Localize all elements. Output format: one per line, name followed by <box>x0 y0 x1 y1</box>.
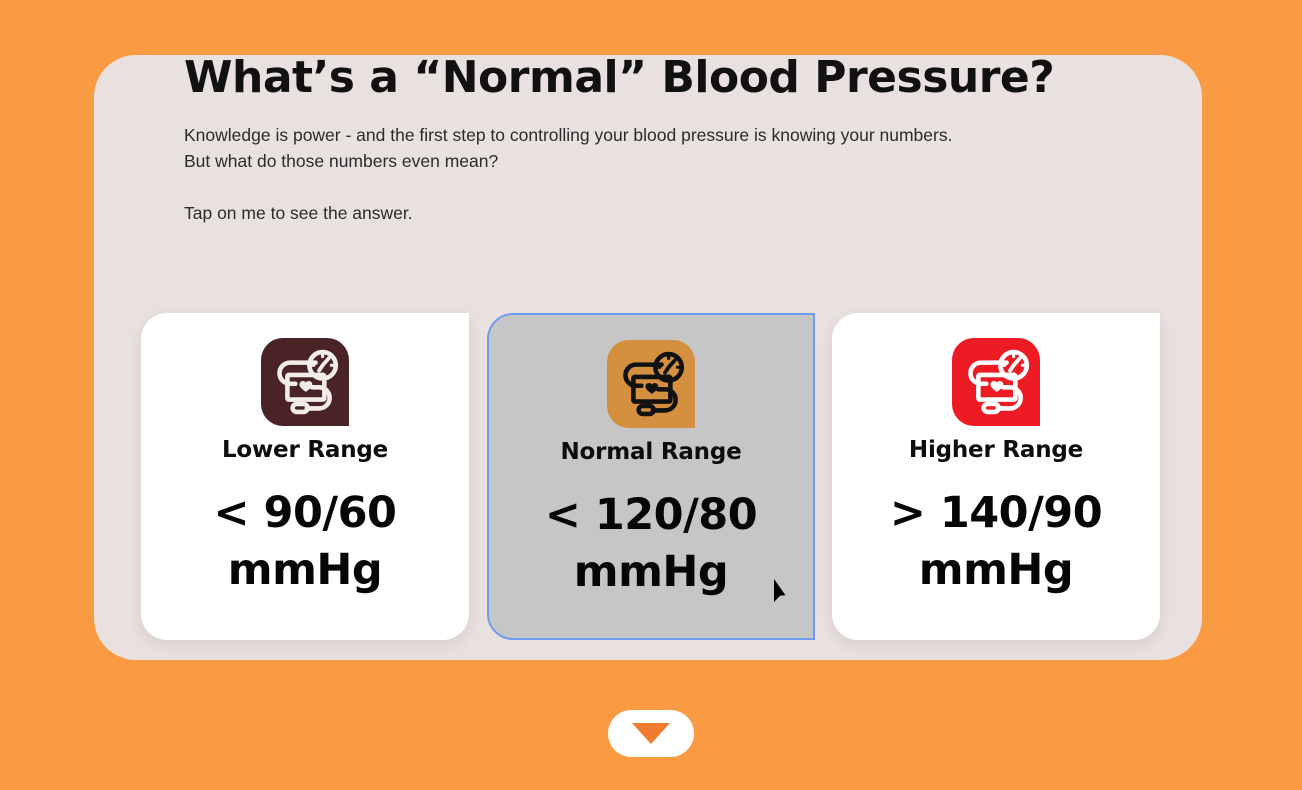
chevron-down-icon <box>632 723 670 744</box>
blood-pressure-monitor-icon <box>952 338 1040 426</box>
intro-paragraph: Knowledge is power - and the first step … <box>184 123 959 174</box>
tap-hint-text: Tap on me to see the answer. <box>184 201 1004 226</box>
card-value: > 140/90 mmHg <box>890 485 1102 599</box>
card-value: < 120/80 mmHg <box>545 487 757 601</box>
card-label: Lower Range <box>222 437 388 463</box>
card-normal-range[interactable]: Normal Range < 120/80 mmHg <box>487 313 815 640</box>
blood-pressure-monitor-icon <box>261 338 349 426</box>
card-lower-range[interactable]: Lower Range < 90/60 mmHg <box>141 313 469 640</box>
blood-pressure-card-list: Lower Range < 90/60 mmHg Normal Range < … <box>141 313 1161 640</box>
blood-pressure-monitor-icon <box>607 340 695 428</box>
page-title: What’s a “Normal” Blood Pressure? <box>184 55 1004 101</box>
card-label: Normal Range <box>560 439 741 465</box>
scroll-down-button[interactable] <box>608 710 694 757</box>
card-value: < 90/60 mmHg <box>214 485 397 599</box>
header-block: What’s a “Normal” Blood Pressure? Knowle… <box>184 55 1004 226</box>
card-higher-range[interactable]: Higher Range > 140/90 mmHg <box>832 313 1160 640</box>
card-label: Higher Range <box>909 437 1083 463</box>
